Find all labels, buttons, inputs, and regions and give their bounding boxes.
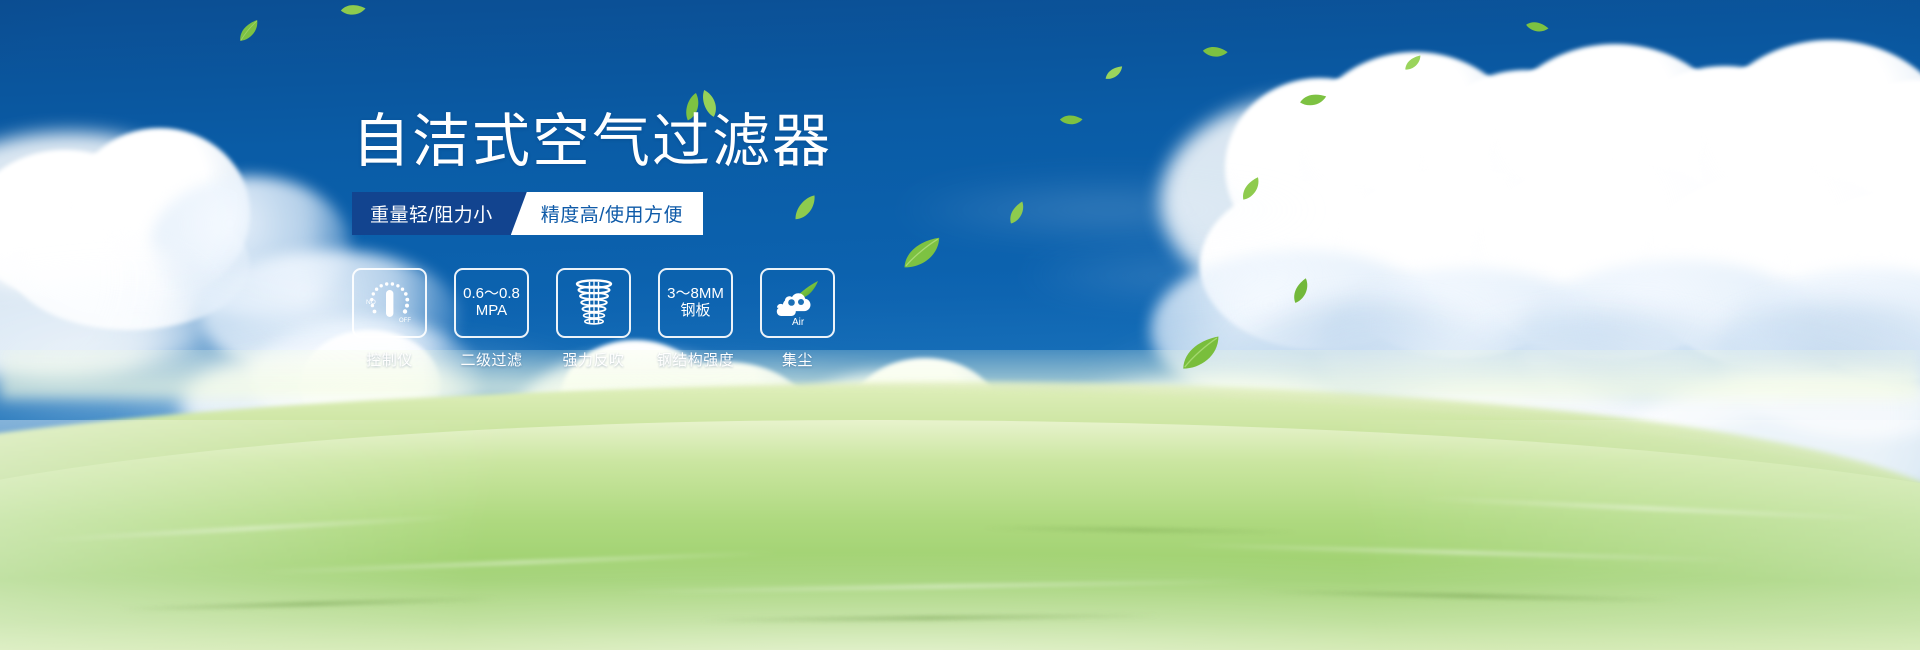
coil-blowback-icon: [571, 277, 617, 329]
dust-cloud-air-icon: Air: [768, 277, 828, 329]
feature-item[interactable]: 强力反吹: [556, 268, 631, 370]
svg-text:OFF: OFF: [399, 318, 411, 324]
tag-secondary-label: 精度高/使用方便: [541, 200, 683, 227]
tag-group: 重量轻/阻力小 精度高/使用方便: [352, 192, 703, 235]
tag-primary-label: 重量轻/阻力小: [370, 200, 493, 227]
feature-list: NO OFF 控制仪 0.6～0.8 MPA 二级过滤: [352, 268, 835, 370]
svg-text:NO: NO: [366, 299, 376, 306]
banner-root: 自洁式空气过滤器 重量轻/阻力小 精度高/使用方便: [0, 0, 1920, 650]
feature-item[interactable]: NO OFF 控制仪: [352, 268, 427, 370]
feature-icon-box: [556, 268, 631, 338]
air-label: Air: [792, 317, 805, 328]
banner-content: 自洁式空气过滤器 重量轻/阻力小 精度高/使用方便: [0, 0, 1920, 650]
steel-line-1: 3～8MM: [667, 286, 724, 303]
feature-icon-box: 0.6～0.8 MPA: [454, 268, 529, 338]
tag-primary[interactable]: 重量轻/阻力小: [352, 192, 527, 235]
feature-label: 二级过滤: [460, 349, 522, 370]
pressure-line-1: 0.6～0.8: [463, 286, 520, 303]
feature-label: 集尘: [782, 349, 813, 370]
pressure-line-2: MPA: [463, 303, 520, 320]
feature-item[interactable]: 3～8MM 钢板 钢结构强度: [658, 268, 733, 370]
feature-item[interactable]: Air 集尘: [760, 268, 835, 370]
gauge-dial-icon: NO OFF: [361, 277, 419, 329]
steel-line-2: 钢板: [667, 303, 724, 320]
pressure-text-icon: 0.6～0.8 MPA: [463, 286, 520, 320]
steel-plate-text-icon: 3～8MM 钢板: [667, 286, 724, 320]
feature-icon-box: NO OFF: [352, 268, 427, 338]
feature-icon-box: 3～8MM 钢板: [658, 268, 733, 338]
feature-label: 强力反吹: [562, 349, 624, 370]
feature-label: 钢结构强度: [657, 349, 735, 370]
feature-item[interactable]: 0.6～0.8 MPA 二级过滤: [454, 268, 529, 370]
feature-label: 控制仪: [366, 349, 413, 370]
feature-icon-box: Air: [760, 268, 835, 338]
page-title: 自洁式空气过滤器: [352, 113, 832, 171]
tag-secondary[interactable]: 精度高/使用方便: [511, 192, 703, 235]
